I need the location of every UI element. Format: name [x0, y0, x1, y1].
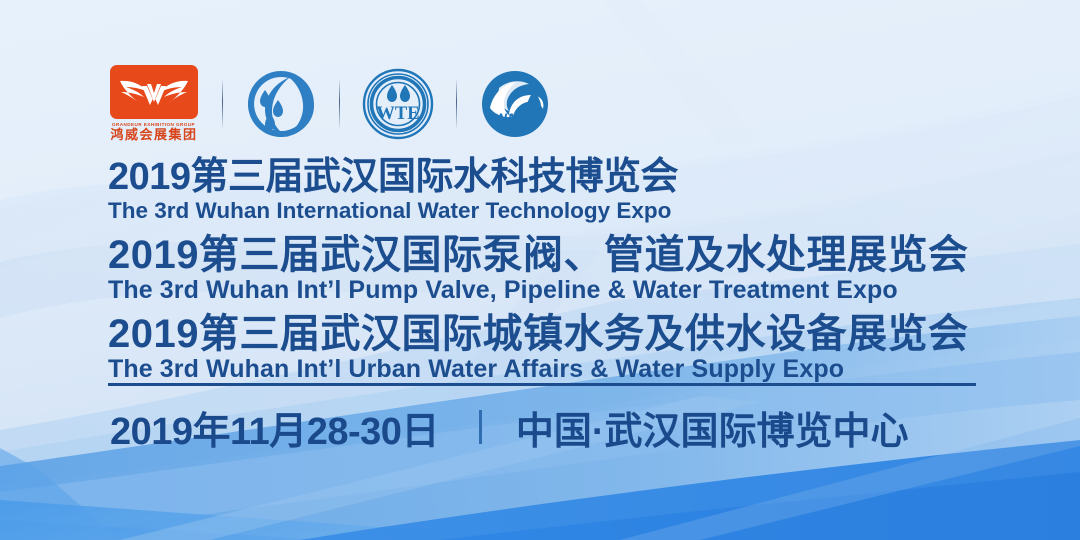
waws-logo: WAWS — [479, 68, 551, 140]
logo-row: GRANDEUR EXHIBITION GROUP 鸿威会展集团 — [108, 62, 551, 146]
waws-label: WAWS — [495, 111, 538, 126]
title-1-chinese: 2019第三届武汉国际水科技博览会 — [108, 158, 988, 196]
grandeur-english-name: GRANDEUR EXHIBITION GROUP — [112, 122, 195, 127]
wte-label: WTE — [376, 104, 419, 124]
logo-separator-2 — [339, 80, 340, 128]
waws-circle-icon: WAWS — [479, 68, 551, 140]
event-date: 2019年11月28-30日 — [110, 400, 439, 455]
event-venue: 中国·武汉国际博览中心 — [516, 400, 909, 455]
grandeur-chinese-name: 鸿威会展集团 — [110, 128, 197, 142]
grandeur-exhibition-group-logo: GRANDEUR EXHIBITION GROUP 鸿威会展集团 — [108, 65, 200, 142]
footer-row: 2019年11月28-30日 中国·武汉国际博览中心 — [110, 398, 909, 456]
title-group-urban-water: 2019第三届武汉国际城镇水务及供水设备展览会 The 3rd Wuhan In… — [108, 314, 988, 382]
title-1-english: The 3rd Wuhan International Water Techno… — [108, 199, 988, 223]
title-2-english: The 3rd Wuhan Int’l Pump Valve, Pipeline… — [108, 277, 988, 303]
wte-logo: WTE — [362, 68, 434, 140]
footer-separator — [479, 410, 482, 444]
title-group-pump-valve: 2019第三届武汉国际泵阀、管道及水处理展览会 The 3rd Wuhan In… — [108, 235, 988, 303]
water-drop-circle-logo — [245, 68, 317, 140]
grandeur-wing-mark — [110, 65, 198, 119]
wing-w-icon — [117, 72, 191, 112]
title-3-english: The 3rd Wuhan Int’l Urban Water Affairs … — [108, 356, 988, 382]
title-2-chinese: 2019第三届武汉国际泵阀、管道及水处理展览会 — [108, 235, 988, 275]
logo-separator-1 — [222, 80, 223, 128]
logo-separator-3 — [456, 80, 457, 128]
wte-circle-icon: WTE — [362, 68, 434, 140]
expo-banner: GRANDEUR EXHIBITION GROUP 鸿威会展集团 — [0, 0, 1080, 540]
title-block: 2019第三届武汉国际水科技博览会 The 3rd Wuhan Internat… — [108, 158, 988, 382]
title-3-chinese: 2019第三届武汉国际城镇水务及供水设备展览会 — [108, 314, 988, 354]
title-group-water-technology: 2019第三届武汉国际水科技博览会 The 3rd Wuhan Internat… — [108, 158, 988, 223]
water-drop-circle-icon — [245, 68, 317, 140]
horizontal-divider — [108, 383, 976, 386]
